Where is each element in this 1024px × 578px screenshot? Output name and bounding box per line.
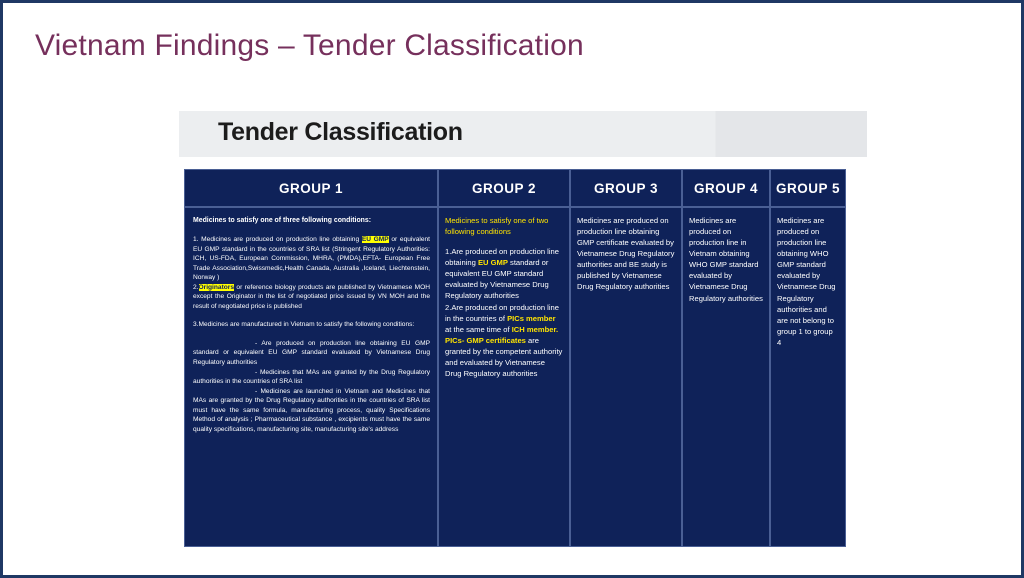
figure-header-title: Tender Classification <box>218 118 463 147</box>
group-2-content: Medicines to satisfy one of two followin… <box>439 208 569 385</box>
group-1-item-2-highlight: Originators <box>199 284 235 291</box>
group-1-item-3: 3.Medicines are manufactured in Vietnam … <box>193 320 430 330</box>
table-cell-group-3: Medicines are produced on production lin… <box>570 207 682 547</box>
group-1-sub-item-3: - Medicines are launched in Vietnam and … <box>193 387 430 435</box>
table-row: Medicines to satisfy one of three follow… <box>184 207 846 547</box>
spacer <box>193 330 430 339</box>
group-5-content: Medicines are produced on production lin… <box>771 208 845 354</box>
table-cell-group-1: Medicines to satisfy one of three follow… <box>184 207 438 547</box>
group-1-sub-item-1: - Are produced on production line obtain… <box>193 339 430 368</box>
spacer <box>445 237 563 246</box>
tender-classification-figure: Tender Classification GROUP 1 GROUP 2 GR… <box>179 111 867 551</box>
group-1-item-2-number: 2. <box>193 284 199 291</box>
table-cell-group-5: Medicines are produced on production lin… <box>770 207 846 547</box>
slide-canvas: Vietnam Findings – Tender Classification… <box>0 0 1024 578</box>
group-2-item-2-mid: at the same time of <box>445 325 512 334</box>
table-cell-group-2: Medicines to satisfy one of two followin… <box>438 207 570 547</box>
group-1-heading: Medicines to satisfy one of three follow… <box>193 216 430 226</box>
group-1-item-1-pre: 1. Medicines are produced on production … <box>193 236 362 243</box>
group-2-item-2: 2.Are produced on production line in the… <box>445 302 563 380</box>
group-2-item-1: 1.Are produced on production line obtain… <box>445 246 563 301</box>
group-1-item-1: 1. Medicines are produced on production … <box>193 235 430 283</box>
group-2-item-1-emphasis: EU GMP <box>478 258 508 267</box>
group-2-item-2-emphasis-pics: PICs member <box>507 314 556 323</box>
column-header-group-4: GROUP 4 <box>682 169 770 207</box>
column-header-group-2: GROUP 2 <box>438 169 570 207</box>
spacer <box>193 226 430 235</box>
page-title: Vietnam Findings – Tender Classification <box>35 29 584 63</box>
group-1-sub-item-2: - Medicines that MAs are granted by the … <box>193 368 430 387</box>
column-header-group-5: GROUP 5 <box>770 169 846 207</box>
group-1-item-2: 2.Originators or reference biology produ… <box>193 283 430 312</box>
column-header-group-3: GROUP 3 <box>570 169 682 207</box>
table-header-row: GROUP 1 GROUP 2 GROUP 3 GROUP 4 GROUP 5 <box>184 169 846 207</box>
group-4-text: Medicines are produced on production lin… <box>689 215 763 304</box>
tender-classification-table: GROUP 1 GROUP 2 GROUP 3 GROUP 4 GROUP 5 … <box>184 169 846 547</box>
group-3-content: Medicines are produced on production lin… <box>571 208 681 299</box>
column-header-group-1: GROUP 1 <box>184 169 438 207</box>
group-4-content: Medicines are produced on production lin… <box>683 208 769 310</box>
group-1-item-1-highlight: EU GMP <box>362 236 389 243</box>
group-5-text: Medicines are produced on production lin… <box>777 215 839 348</box>
spacer <box>193 311 430 320</box>
group-1-content: Medicines to satisfy one of three follow… <box>185 208 437 440</box>
group-3-text: Medicines are produced on production lin… <box>577 215 675 293</box>
group-2-heading: Medicines to satisfy one of two followin… <box>445 215 563 237</box>
table-cell-group-4: Medicines are produced on production lin… <box>682 207 770 547</box>
